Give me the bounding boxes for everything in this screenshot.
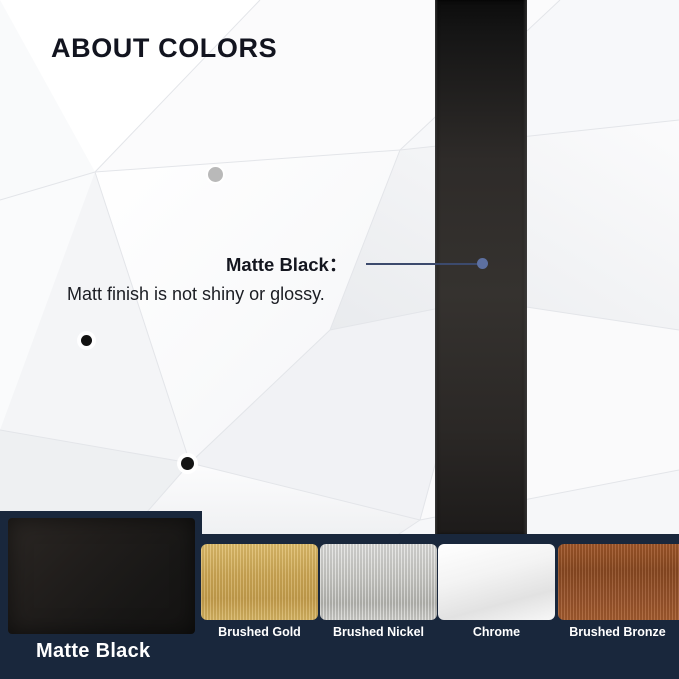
callout-description: Matt finish is not shiny or glossy. bbox=[67, 284, 325, 305]
swatch-tile-matte-black[interactable] bbox=[8, 518, 195, 634]
swatch-label-chrome: Chrome bbox=[438, 625, 555, 639]
callout-label: Matte Black： bbox=[226, 251, 347, 277]
swatch-label-matte-black: Matte Black bbox=[0, 640, 190, 663]
grey-dot bbox=[208, 167, 223, 182]
black-dot-1 bbox=[81, 335, 92, 346]
swatch-label-brushed-bronze: Brushed Bronze bbox=[556, 625, 679, 639]
swatch-tile-brushed-nickel[interactable] bbox=[320, 544, 437, 620]
page-title: ABOUT COLORS bbox=[51, 33, 277, 64]
swatch-label-brushed-nickel: Brushed Nickel bbox=[320, 625, 437, 639]
swatch-tile-chrome[interactable] bbox=[438, 544, 555, 620]
callout-endpoint-dot bbox=[477, 258, 488, 269]
swatch-tile-brushed-gold[interactable] bbox=[201, 544, 318, 620]
callout-leader-line bbox=[366, 263, 478, 265]
swatch-tile-brushed-bronze[interactable] bbox=[558, 544, 679, 620]
black-dot-2 bbox=[181, 457, 194, 470]
about-colors-infographic: ABOUT COLORS Matte Black： Matt finish is… bbox=[0, 0, 679, 679]
swatch-label-brushed-gold: Brushed Gold bbox=[201, 625, 318, 639]
